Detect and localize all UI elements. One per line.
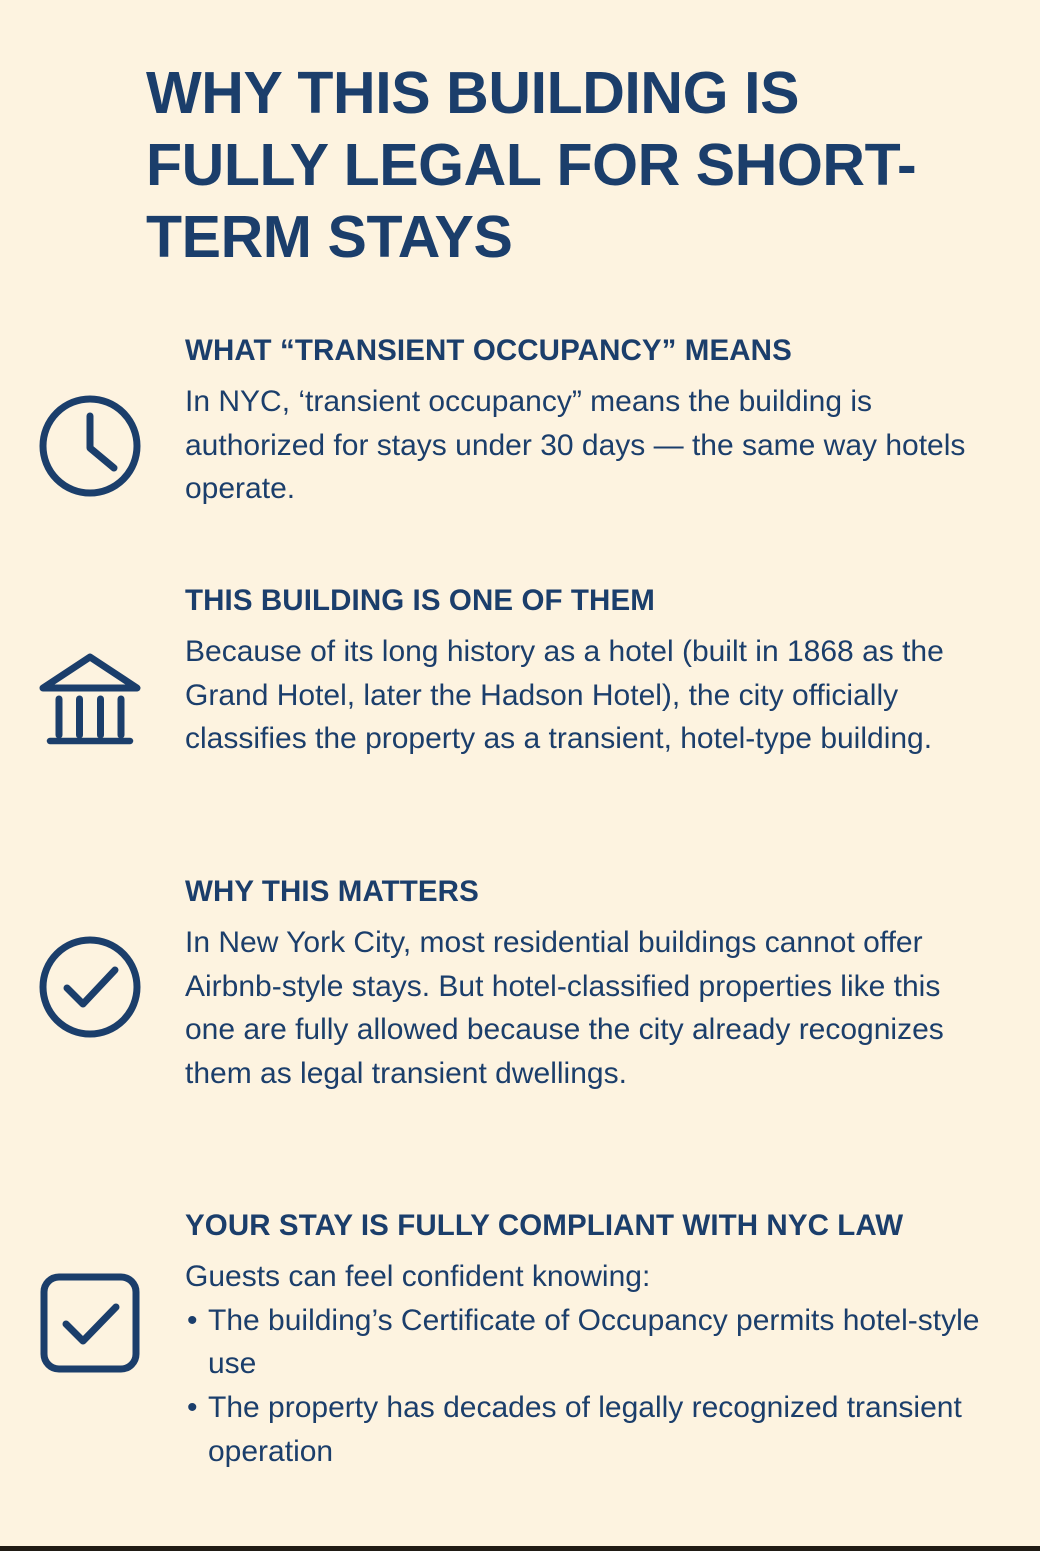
list-item: • The building’s Certificate of Occupanc… [185,1299,997,1387]
section-heading: WHY THIS MATTERS [185,873,997,911]
circle-check-icon [34,931,146,1043]
compliance-bullet-list: • The building’s Certificate of Occupanc… [185,1299,997,1474]
bottom-edge-strip [0,1546,1040,1551]
section-body: WHAT “TRANSIENT OCCUPANCY” MEANS In NYC,… [185,332,997,511]
bullet-marker: • [187,1386,198,1430]
page-title: WHY THIS BUILDING IS FULLY LEGAL FOR SHO… [146,58,936,274]
section-paragraph: Guests can feel confident knowing: [185,1255,997,1299]
list-item-label: The property has decades of legally reco… [208,1391,962,1468]
section-paragraph: Because of its long history as a hotel (… [185,630,997,761]
bullet-marker: • [187,1299,198,1343]
section-body: YOUR STAY IS FULLY COMPLIANT WITH NYC LA… [185,1207,997,1474]
bank-building-icon [34,637,146,749]
square-check-icon [34,1267,146,1379]
section-body: WHY THIS MATTERS In New York City, most … [185,873,997,1096]
clock-icon [34,390,146,502]
list-item: • The property has decades of legally re… [185,1386,997,1474]
section-paragraph: In New York City, most residential build… [185,921,997,1096]
section-heading: YOUR STAY IS FULLY COMPLIANT WITH NYC LA… [185,1207,997,1245]
section-body: THIS BUILDING IS ONE OF THEM Because of … [185,582,997,761]
section-heading: THIS BUILDING IS ONE OF THEM [185,582,997,620]
list-item-label: The building’s Certificate of Occupancy … [208,1304,979,1381]
section-paragraph: In NYC, ‘transient occupancy” means the … [185,380,997,511]
section-heading: WHAT “TRANSIENT OCCUPANCY” MEANS [185,332,997,370]
infographic-page: WHY THIS BUILDING IS FULLY LEGAL FOR SHO… [0,0,1040,1551]
